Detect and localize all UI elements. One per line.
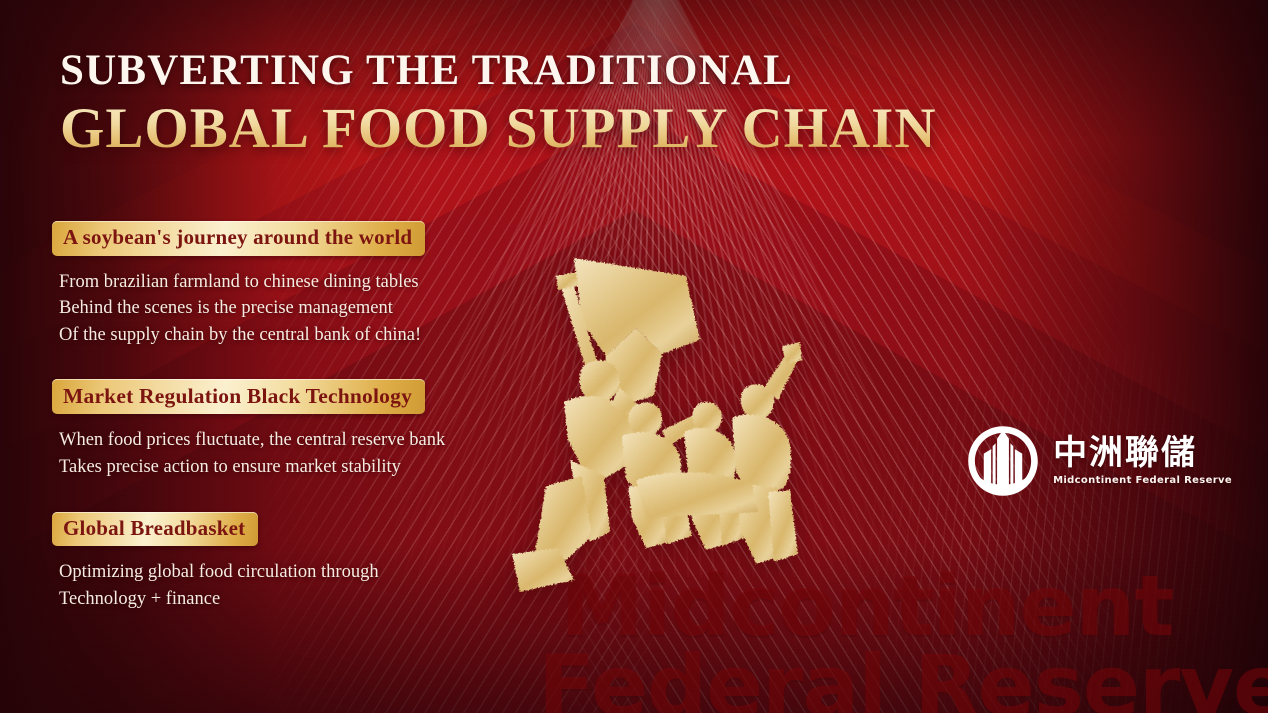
section-3-line-1: Optimizing global food circulation throu…: [59, 559, 612, 586]
page-title: SUBVERTING THE TRADITIONAL GLOBAL FOOD S…: [60, 48, 937, 159]
section-2-line-2: Takes precise action to ensure market st…: [59, 454, 612, 481]
brand-logo-text: 中洲聯儲 Midcontinent Federal Reserve: [1053, 436, 1232, 487]
brand-name-chinese: 中洲聯儲: [1053, 436, 1232, 472]
section-badge-2: Market Regulation Black Technology: [52, 379, 425, 414]
section-1-line-3: Of the supply chain by the central bank …: [59, 322, 612, 349]
section-body-3: Optimizing global food circulation throu…: [52, 559, 612, 612]
poster-canvas: Midcontinent Federal Reserve: [0, 0, 1268, 713]
circular-tower-emblem-icon: [966, 424, 1040, 498]
section-1-line-1: From brazilian farmland to chinese dinin…: [59, 269, 612, 296]
section-body-1: From brazilian farmland to chinese dinin…: [52, 269, 612, 349]
section-badge-1: A soybean's journey around the world: [52, 221, 425, 256]
section-global-breadbasket: Global Breadbasket Optimizing global foo…: [52, 512, 612, 613]
section-market-regulation: Market Regulation Black Technology When …: [52, 379, 612, 480]
content-sections: A soybean's journey around the world Fro…: [52, 221, 612, 612]
headline-line-1: SUBVERTING THE TRADITIONAL: [60, 48, 937, 94]
section-soybean-journey: A soybean's journey around the world Fro…: [52, 221, 612, 348]
brand-logo: 中洲聯儲 Midcontinent Federal Reserve: [966, 424, 1232, 498]
brand-name-english: Midcontinent Federal Reserve: [1053, 475, 1232, 486]
headline-line-2: GLOBAL FOOD SUPPLY CHAIN: [60, 98, 937, 160]
section-3-line-2: Technology + finance: [59, 586, 612, 613]
section-badge-3: Global Breadbasket: [52, 512, 258, 547]
section-2-line-1: When food prices fluctuate, the central …: [59, 427, 612, 454]
section-body-2: When food prices fluctuate, the central …: [52, 427, 612, 480]
section-1-line-2: Behind the scenes is the precise managem…: [59, 295, 612, 322]
background-pinstripes: [837, 342, 1268, 713]
